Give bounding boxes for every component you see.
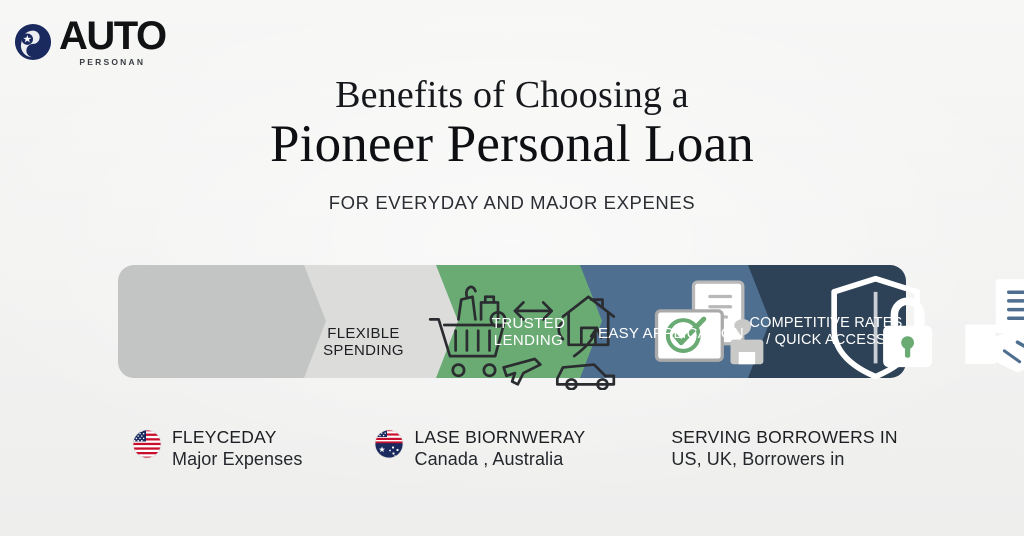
- circular-emblem-icon: [14, 23, 52, 61]
- benefits-chevron-banner: FLEXIBLE SPENDING TRUSTED LENDING EASY A…: [118, 265, 906, 378]
- coverage-title-serving: SERVING BORROWERS IN: [671, 426, 897, 448]
- coverage-text-au: LASE BIORNWERAY Canada , Australia: [414, 426, 585, 472]
- coverage-text-serving: SERVING BORROWERS IN US, UK, Borrowers i…: [671, 426, 897, 472]
- australia-flag-icon: [374, 429, 404, 459]
- banner-segment-flexible-spending: [304, 265, 462, 378]
- banner-segment-competitive-rates: [748, 265, 906, 378]
- coverage-title-us: FLEYCEDAY: [172, 426, 302, 448]
- brand-logo: AUTO PERSONAN: [14, 18, 166, 66]
- coverage-sub-us: Major Expenses: [172, 448, 302, 471]
- coverage-sub-serving: US, UK, Borrowers in: [671, 448, 897, 471]
- banner-segment-everyday-spending: [118, 265, 330, 378]
- coverage-item-serving: SERVING BORROWERS IN US, UK, Borrowers i…: [671, 426, 897, 472]
- coverage-title-au: LASE BIORNWERAY: [414, 426, 585, 448]
- brand-text: AUTO PERSONAN: [59, 18, 166, 66]
- page-title: Pioneer Personal Loan: [0, 115, 1024, 174]
- brand-name: AUTO: [59, 18, 166, 55]
- coverage-item-us: FLEYCEDAY Major Expenses: [132, 426, 302, 472]
- coverage-text-us: FLEYCEDAY Major Expenses: [172, 426, 302, 472]
- banner-segment-easy-application: [580, 265, 774, 378]
- page-subtitle: FOR EVERYDAY AND MAJOR EXPENES: [0, 192, 1024, 214]
- coverage-sub-au: Canada , Australia: [414, 448, 585, 471]
- banner-shapes: [118, 265, 906, 378]
- banner-segment-trusted-lending: [436, 265, 606, 378]
- brand-tagline: PERSONAN: [59, 58, 166, 67]
- coverage-row: FLEYCEDAY Major Expenses: [0, 426, 1024, 472]
- coverage-item-au: LASE BIORNWERAY Canada , Australia: [374, 426, 585, 472]
- heading-block: Benefits of Choosing a Pioneer Personal …: [0, 74, 1024, 214]
- title-line-1: Benefits of Choosing a: [0, 74, 1024, 117]
- us-flag-icon: [132, 429, 162, 459]
